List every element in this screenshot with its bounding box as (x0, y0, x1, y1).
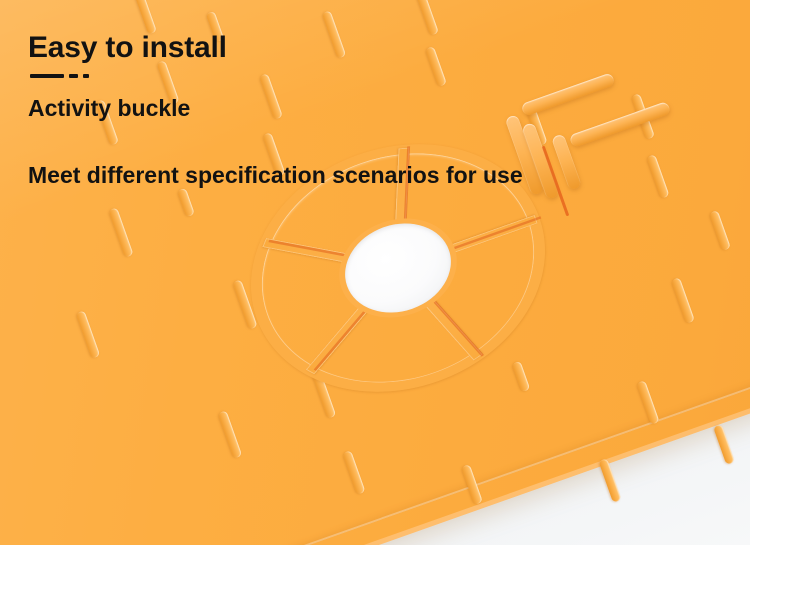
buckle-bar-top-left (521, 72, 616, 116)
subheadline: Activity buckle (28, 95, 190, 122)
divider-segment-short-1 (69, 74, 78, 78)
tagline: Meet different specification scenarios f… (28, 162, 523, 189)
page-margin-bottom (0, 545, 800, 596)
activity-buckle-joint (520, 88, 690, 218)
headline: Easy to install (28, 31, 227, 65)
divider-segment-short-2 (83, 74, 89, 78)
dash-dot-dot-divider (30, 74, 89, 78)
divider-segment-long (30, 74, 64, 78)
activity-buckle-layer (0, 0, 750, 545)
buckle-bar-top-right (569, 101, 671, 148)
product-photo-stage: Easy to install Activity buckle Meet dif… (0, 0, 800, 596)
page-margin-right (750, 0, 800, 596)
